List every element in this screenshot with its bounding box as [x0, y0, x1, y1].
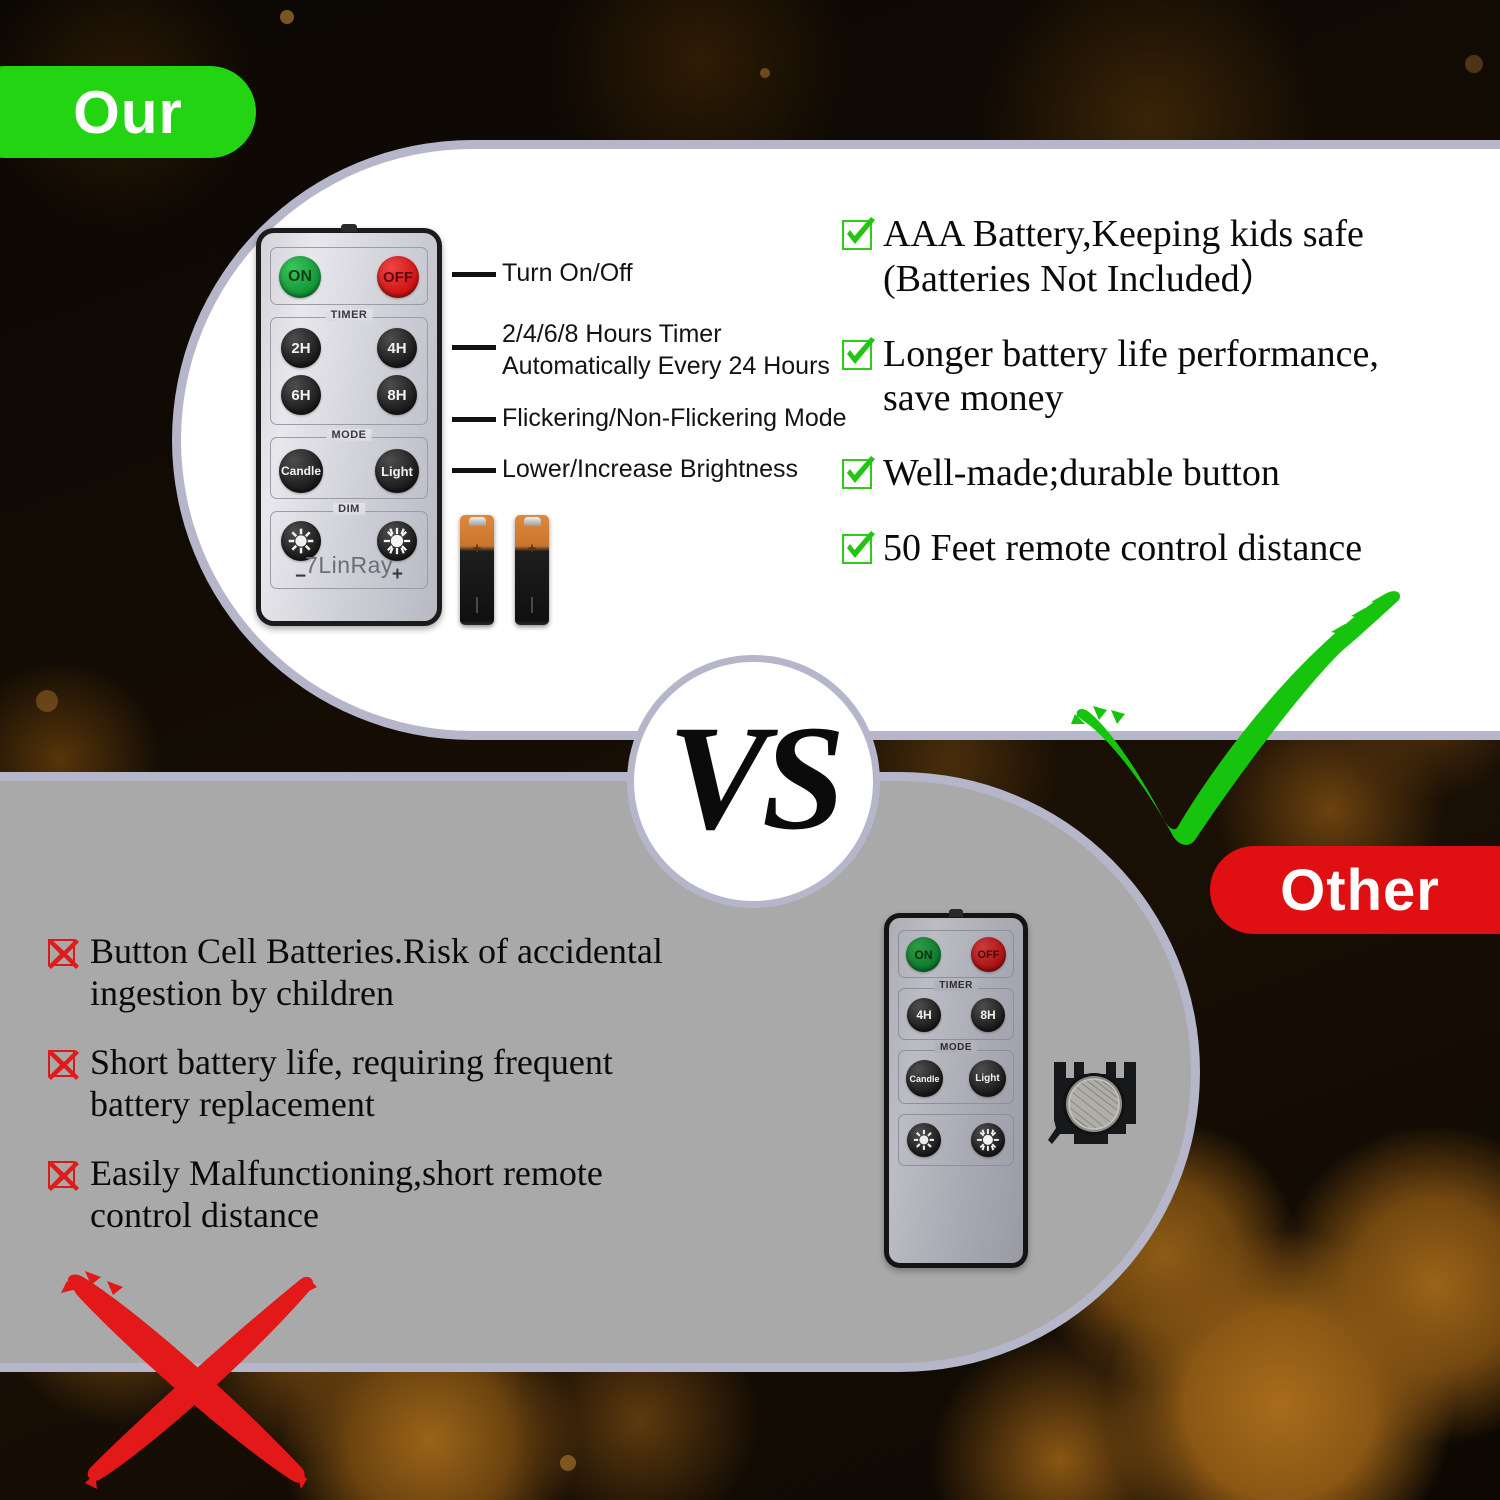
big-checkmark-icon	[1055, 588, 1425, 848]
timer-8h-button[interactable]: 8H	[971, 998, 1005, 1032]
leader-line	[452, 272, 496, 277]
mode-group: MODE Candle Light	[270, 437, 428, 499]
leader-line	[452, 468, 496, 473]
timer-4h-button[interactable]: 4H	[377, 328, 417, 368]
timer-group: TIMER 4H 8H	[898, 988, 1014, 1040]
check-icon	[842, 220, 876, 254]
on-button[interactable]: ON	[906, 937, 941, 972]
checkmark-glyph	[840, 528, 880, 568]
our-badge-label: Our	[33, 78, 183, 147]
brightness-sun-icon	[912, 1128, 936, 1152]
annotation-timer: 2/4/6/8 Hours Timer Automatically Every …	[502, 318, 830, 382]
cross-icon	[48, 939, 78, 969]
infographic-canvas: ON OFF TIMER 2H 4H 6H 8H MODE Candle Lig…	[0, 0, 1500, 1500]
feature-item: Well-made;durable button	[842, 451, 1492, 496]
feature-text: 50 Feet remote control distance	[883, 526, 1362, 571]
feature-text: Well-made;durable button	[883, 451, 1280, 496]
aaa-batteries: + +	[460, 515, 570, 635]
on-button[interactable]: ON	[279, 256, 321, 298]
check-icon	[842, 459, 876, 493]
our-remote-control: ON OFF TIMER 2H 4H 6H 8H MODE Candle Lig…	[256, 228, 442, 626]
annotation-mode: Flickering/Non-Flickering Mode	[502, 402, 847, 434]
our-badge: Our	[0, 66, 256, 158]
bokeh-light	[280, 10, 294, 24]
feature-text: AAA Battery,Keeping kids safe (Batteries…	[883, 212, 1364, 302]
battery-stripe	[531, 597, 533, 613]
other-remote-control: ON OFF TIMER 4H 8H MODE Candle Light	[884, 913, 1028, 1268]
dim-up-button[interactable]	[971, 1123, 1005, 1157]
leader-line	[452, 417, 496, 422]
annotation-turn-on-off: Turn On/Off	[502, 257, 633, 289]
check-icon	[842, 340, 876, 374]
cons-list: Button Cell Batteries.Risk of accidental…	[48, 930, 778, 1263]
power-group: ON OFF	[898, 930, 1014, 978]
con-item: Easily Malfunctioning,short remote contr…	[48, 1152, 778, 1237]
con-item: Short battery life, requiring frequent b…	[48, 1041, 778, 1126]
con-text: Short battery life, requiring frequent b…	[90, 1041, 613, 1126]
mode-group-label: MODE	[935, 1042, 977, 1053]
dim-group	[898, 1114, 1014, 1166]
mode-group-label: MODE	[327, 429, 372, 441]
off-button[interactable]: OFF	[971, 937, 1006, 972]
off-button[interactable]: OFF	[377, 256, 419, 298]
timer-4h-button[interactable]: 4H	[907, 998, 941, 1032]
checkmark-glyph	[840, 214, 880, 254]
cross-icon	[48, 1161, 78, 1191]
con-item: Button Cell Batteries.Risk of accidental…	[48, 930, 778, 1015]
cross-glyph	[47, 1159, 81, 1193]
timer-2h-button[interactable]: 2H	[281, 328, 321, 368]
mode-candle-button[interactable]: Candle	[279, 449, 323, 493]
mode-light-button[interactable]: Light	[969, 1060, 1006, 1097]
battery-cap	[469, 517, 486, 526]
mode-light-button[interactable]: Light	[375, 449, 419, 493]
checkmark-glyph	[840, 453, 880, 493]
battery-stripe	[476, 597, 478, 613]
timer-group: TIMER 2H 4H 6H 8H	[270, 317, 428, 425]
timer-6h-button[interactable]: 6H	[281, 375, 321, 415]
other-badge-label: Other	[1280, 857, 1470, 924]
cross-icon	[48, 1050, 78, 1080]
power-group: ON OFF	[270, 247, 428, 305]
bokeh-light	[560, 1455, 576, 1471]
leader-line	[452, 345, 496, 350]
mode-group: MODE Candle Light	[898, 1050, 1014, 1104]
feature-item: AAA Battery,Keeping kids safe (Batteries…	[842, 212, 1492, 302]
checkmark-glyph	[840, 334, 880, 374]
con-text: Button Cell Batteries.Risk of accidental…	[90, 930, 663, 1015]
big-cross-icon	[55, 1245, 355, 1500]
feature-list: AAA Battery,Keeping kids safe (Batteries…	[842, 212, 1492, 601]
dim-group-label: DIM	[333, 503, 365, 515]
bokeh-light	[1465, 55, 1483, 73]
brightness-sun-icon	[287, 527, 315, 555]
vs-badge: VS	[627, 655, 880, 908]
dim-down-button[interactable]	[907, 1123, 941, 1157]
brightness-sun-icon	[383, 527, 411, 555]
brightness-sun-icon	[976, 1128, 1000, 1152]
timer-group-label: TIMER	[934, 980, 978, 991]
bokeh-light	[36, 690, 58, 712]
coin-cell-battery-holder-icon	[1048, 1048, 1140, 1158]
timer-8h-button[interactable]: 8H	[377, 375, 417, 415]
feature-item: Longer battery life performance, save mo…	[842, 332, 1492, 422]
battery-icon: +	[460, 515, 494, 625]
cross-glyph	[47, 937, 81, 971]
battery-plus-mark: +	[473, 541, 482, 556]
battery-cap	[524, 517, 541, 526]
feature-item: 50 Feet remote control distance	[842, 526, 1492, 571]
ir-emitter-icon	[949, 909, 963, 917]
battery-icon: +	[515, 515, 549, 625]
bokeh-light	[760, 68, 770, 78]
battery-plus-mark: +	[528, 541, 537, 556]
con-text: Easily Malfunctioning,short remote contr…	[90, 1152, 603, 1237]
timer-group-label: TIMER	[326, 309, 373, 321]
other-badge: Other	[1210, 846, 1500, 934]
ir-emitter-icon	[341, 224, 357, 232]
cross-glyph	[47, 1048, 81, 1082]
feature-text: Longer battery life performance, save mo…	[883, 332, 1379, 422]
annotation-brightness: Lower/Increase Brightness	[502, 453, 798, 485]
our-remote-brand: 7LinRay	[261, 552, 437, 579]
check-icon	[842, 534, 876, 568]
mode-candle-button[interactable]: Candle	[906, 1060, 943, 1097]
vs-label: VS	[668, 703, 839, 853]
